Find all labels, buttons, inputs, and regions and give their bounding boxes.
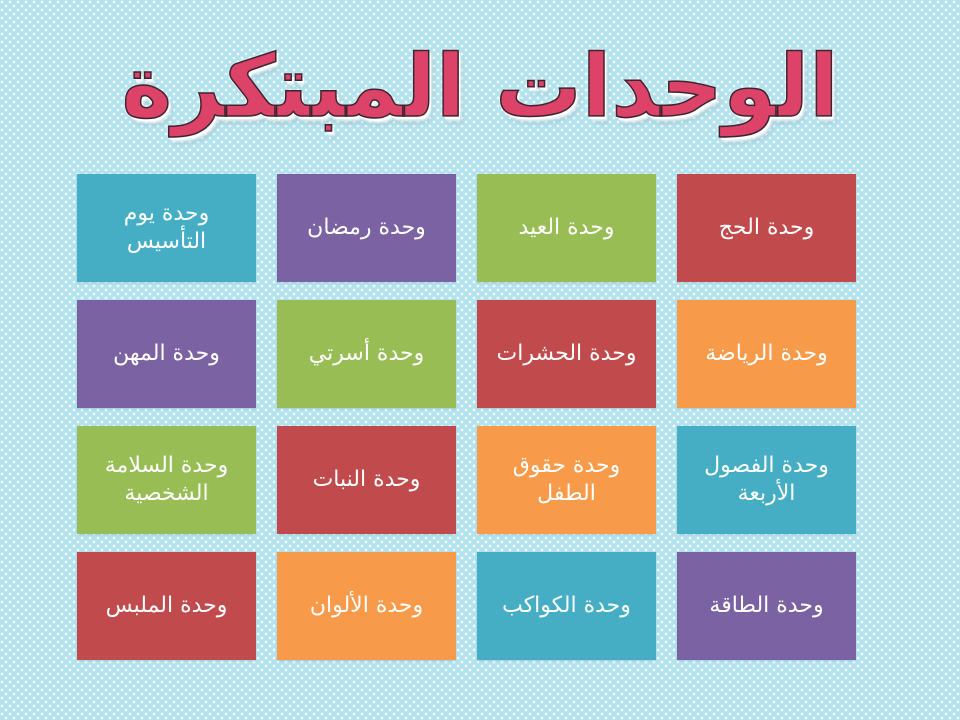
unit-card-label: وحدة رمضان	[285, 214, 448, 242]
unit-card-insects[interactable]: وحدة الحشرات	[477, 300, 656, 408]
unit-card-label: وحدة الملبس	[85, 592, 248, 620]
unit-card-label: وحدة الكواكب	[485, 592, 648, 620]
unit-card-four-seasons[interactable]: وحدة الفصول الأربعة	[677, 426, 856, 534]
unit-card-personal-safety[interactable]: وحدة السلامة الشخصية	[77, 426, 256, 534]
unit-card-label: وحدة أسرتي	[285, 340, 448, 368]
unit-card-eid[interactable]: وحدة العيد	[477, 174, 656, 282]
slide-canvas: الوحدات المبتكرة وحدة الحج وحدة العيد وح…	[0, 0, 960, 720]
unit-card-professions[interactable]: وحدة المهن	[77, 300, 256, 408]
unit-card-plants[interactable]: وحدة النبات	[277, 426, 456, 534]
unit-card-planets[interactable]: وحدة الكواكب	[477, 552, 656, 660]
title-area: الوحدات المبتكرة	[0, 22, 960, 152]
unit-card-label: وحدة المهن	[85, 340, 248, 368]
unit-card-label: وحدة الحشرات	[485, 340, 648, 368]
unit-card-founding-day[interactable]: وحدة يوم التأسيس	[77, 174, 256, 282]
unit-card-label: وحدة حقوق الطفل	[485, 452, 648, 508]
unit-card-label: وحدة الحج	[685, 214, 848, 242]
page-title: الوحدات المبتكرة	[121, 41, 838, 134]
unit-card-ramadan[interactable]: وحدة رمضان	[277, 174, 456, 282]
unit-card-label: وحدة الطاقة	[685, 592, 848, 620]
unit-card-label: وحدة الرياضة	[685, 340, 848, 368]
unit-card-label: وحدة الألوان	[285, 592, 448, 620]
unit-card-colors[interactable]: وحدة الألوان	[277, 552, 456, 660]
unit-card-label: وحدة السلامة الشخصية	[85, 452, 248, 508]
units-grid: وحدة الحج وحدة العيد وحدة رمضان وحدة يوم…	[76, 174, 856, 660]
unit-card-sports[interactable]: وحدة الرياضة	[677, 300, 856, 408]
unit-card-label: وحدة يوم التأسيس	[85, 200, 248, 256]
unit-card-label: وحدة النبات	[285, 466, 448, 494]
unit-card-hajj[interactable]: وحدة الحج	[677, 174, 856, 282]
unit-card-label: وحدة العيد	[485, 214, 648, 242]
unit-card-clothing[interactable]: وحدة الملبس	[77, 552, 256, 660]
unit-card-energy[interactable]: وحدة الطاقة	[677, 552, 856, 660]
unit-card-child-rights[interactable]: وحدة حقوق الطفل	[477, 426, 656, 534]
unit-card-label: وحدة الفصول الأربعة	[685, 452, 848, 508]
unit-card-my-family[interactable]: وحدة أسرتي	[277, 300, 456, 408]
